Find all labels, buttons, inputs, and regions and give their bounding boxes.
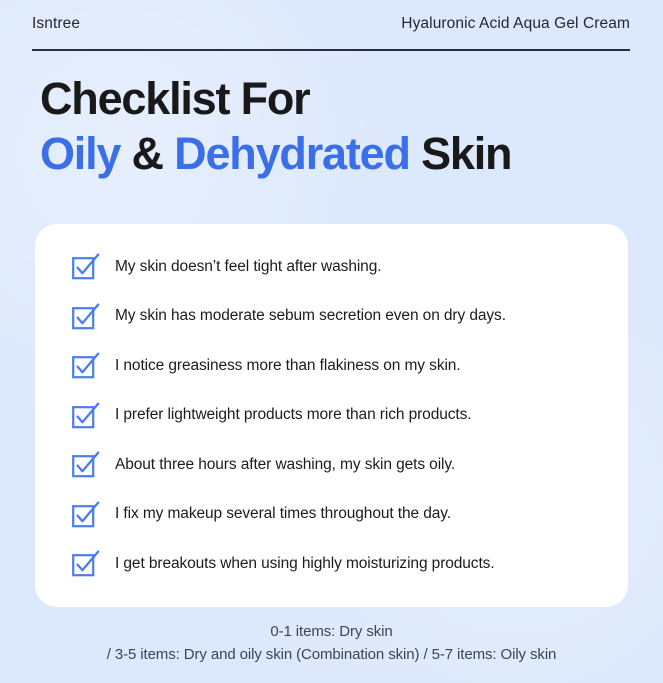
checklist-item-label: My skin doesn’t feel tight after washing… xyxy=(115,258,381,277)
title-text-ampersand-space xyxy=(120,128,131,179)
checklist-page: Isntree Hyaluronic Acid Aqua Gel Cream C… xyxy=(0,0,663,683)
checklist-row-7[interactable]: I get breakouts when using highly moistu… xyxy=(71,549,602,579)
page-header: Isntree Hyaluronic Acid Aqua Gel Cream xyxy=(32,16,630,51)
title-text-checklist-for: Checklist For xyxy=(40,73,309,124)
brand-name: Isntree xyxy=(32,16,80,32)
title-line-2: Oily & Dehydrated Skin xyxy=(40,127,640,180)
title-text-dehydrated: Dehydrated xyxy=(174,128,410,179)
checked-checkbox-icon[interactable] xyxy=(71,451,99,479)
checklist-row-5[interactable]: About three hours after washing, my skin… xyxy=(71,450,602,480)
checklist-row-1[interactable]: My skin doesn’t feel tight after washing… xyxy=(71,252,602,282)
checked-checkbox-icon[interactable] xyxy=(71,303,99,331)
result-legend: 0-1 items: Dry skin / 3-5 items: Dry and… xyxy=(0,620,663,667)
checked-checkbox-icon[interactable] xyxy=(71,402,99,430)
checklist-item-label: I prefer lightweight products more than … xyxy=(115,406,471,425)
checklist-item-label: I get breakouts when using highly moistu… xyxy=(115,555,495,574)
page-title: Checklist For Oily & Dehydrated Skin xyxy=(40,72,640,180)
result-legend-line-1: 0-1 items: Dry skin xyxy=(0,620,663,643)
title-space-3 xyxy=(410,128,421,179)
checked-checkbox-icon[interactable] xyxy=(71,550,99,578)
checklist-item-label: I fix my makeup several times throughout… xyxy=(115,505,451,524)
checklist-item-label: I notice greasiness more than flakiness … xyxy=(115,357,461,376)
title-space-2 xyxy=(163,128,174,179)
checked-checkbox-icon[interactable] xyxy=(71,253,99,281)
checklist-item-label: My skin has moderate sebum secretion eve… xyxy=(115,307,506,326)
result-legend-line-2: / 3-5 items: Dry and oily skin (Combinat… xyxy=(0,643,663,666)
checklist-row-2[interactable]: My skin has moderate sebum secretion eve… xyxy=(71,302,602,332)
checklist-row-6[interactable]: I fix my makeup several times throughout… xyxy=(71,500,602,530)
title-text-oily: Oily xyxy=(40,128,120,179)
checklist-item-label: About three hours after washing, my skin… xyxy=(115,456,455,475)
checked-checkbox-icon[interactable] xyxy=(71,352,99,380)
title-line-1: Checklist For xyxy=(40,72,640,125)
product-name: Hyaluronic Acid Aqua Gel Cream xyxy=(401,16,630,32)
title-text-ampersand: & xyxy=(132,128,163,179)
checklist-card: My skin doesn’t feel tight after washing… xyxy=(35,224,628,607)
checklist-row-4[interactable]: I prefer lightweight products more than … xyxy=(71,401,602,431)
title-text-skin: Skin xyxy=(421,128,511,179)
checklist-row-3[interactable]: I notice greasiness more than flakiness … xyxy=(71,351,602,381)
checked-checkbox-icon[interactable] xyxy=(71,501,99,529)
